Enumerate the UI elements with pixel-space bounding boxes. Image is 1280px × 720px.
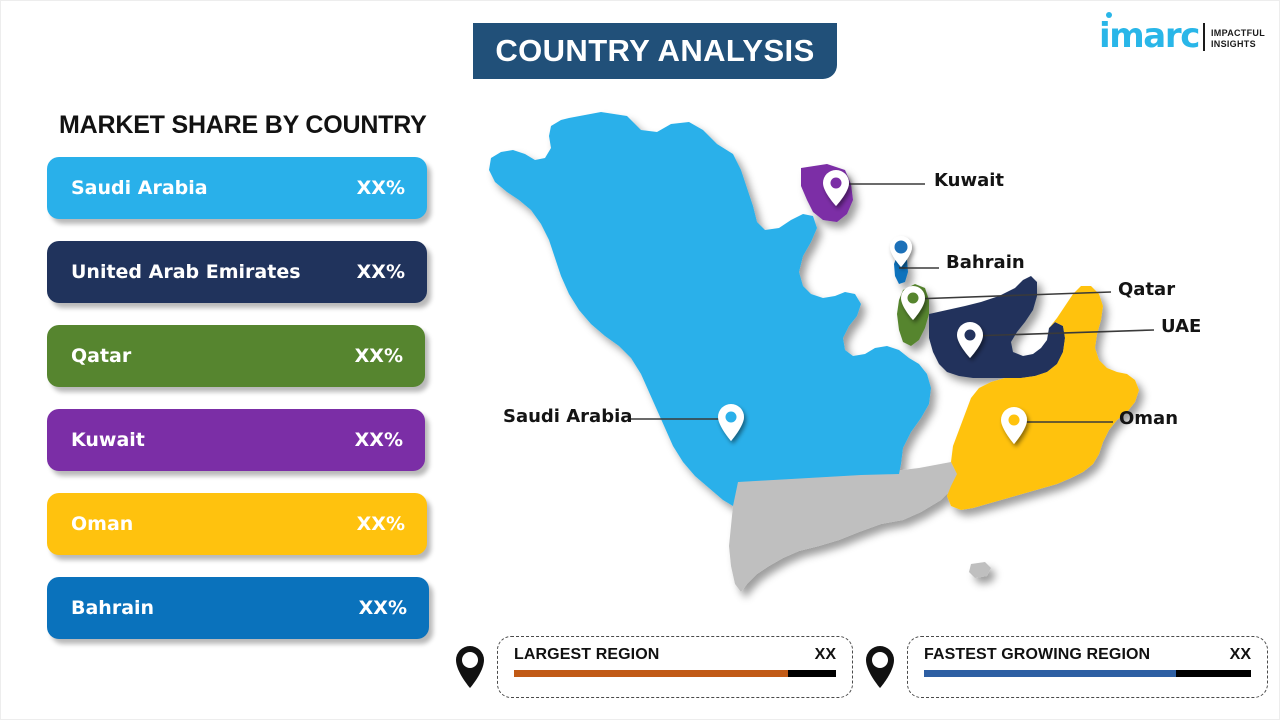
legend-largest-region: LARGEST REGION XX bbox=[453, 635, 853, 699]
legend-largest-row: LARGEST REGION XX bbox=[514, 646, 836, 664]
map-label-oman: Oman bbox=[1119, 408, 1178, 429]
legend-fastest-growing-region: FASTEST GROWING REGION XX bbox=[863, 635, 1268, 699]
logo-wordmark: imarc bbox=[1099, 19, 1199, 53]
country-value: XX% bbox=[357, 513, 405, 535]
imarc-logo: imarc IMPACTFUL INSIGHTS bbox=[1099, 13, 1265, 53]
legend-largest-card: LARGEST REGION XX bbox=[497, 636, 853, 698]
country-bar-kuwait[interactable]: Kuwait XX% bbox=[47, 409, 425, 471]
legend-largest-title: LARGEST REGION bbox=[514, 646, 659, 664]
legend-fastest-title: FASTEST GROWING REGION bbox=[924, 646, 1150, 664]
page-title: COUNTRY ANALYSIS bbox=[495, 33, 814, 69]
country-name: Kuwait bbox=[71, 429, 145, 451]
map-label-kuwait: Kuwait bbox=[934, 170, 1004, 191]
logo-wordmark-text: imarc bbox=[1099, 16, 1199, 56]
map-region-oman-exclave bbox=[969, 562, 991, 578]
legend-fastest-fill bbox=[924, 670, 1176, 677]
country-name: Bahrain bbox=[71, 597, 154, 619]
logo-tagline-line2: INSIGHTS bbox=[1211, 39, 1265, 50]
legend-fastest-row: FASTEST GROWING REGION XX bbox=[924, 646, 1251, 664]
map-label-saudi-arabia: Saudi Arabia bbox=[503, 406, 632, 427]
legend-fastest-track bbox=[924, 670, 1251, 677]
map-label-uae: UAE bbox=[1161, 316, 1201, 337]
page-title-banner: COUNTRY ANALYSIS bbox=[473, 23, 837, 79]
market-share-heading: MARKET SHARE BY COUNTRY bbox=[59, 111, 427, 140]
country-name: Qatar bbox=[71, 345, 131, 367]
country-share-list: Saudi Arabia XX% United Arab Emirates XX… bbox=[47, 157, 437, 661]
logo-tagline: IMPACTFUL INSIGHTS bbox=[1211, 28, 1265, 53]
country-bar-united-arab-emirates[interactable]: United Arab Emirates XX% bbox=[47, 241, 427, 303]
country-value: XX% bbox=[357, 177, 405, 199]
country-bar-oman[interactable]: Oman XX% bbox=[47, 493, 427, 555]
logo-dot-icon bbox=[1106, 12, 1112, 18]
legend-largest-value: XX bbox=[815, 646, 836, 664]
country-bar-bahrain[interactable]: Bahrain XX% bbox=[47, 577, 429, 639]
legend-fastest-card: FASTEST GROWING REGION XX bbox=[907, 636, 1268, 698]
map-region-yemen bbox=[729, 462, 957, 592]
country-name: United Arab Emirates bbox=[71, 261, 301, 283]
legend-fastest-value: XX bbox=[1230, 646, 1251, 664]
country-name: Oman bbox=[71, 513, 133, 535]
logo-divider bbox=[1203, 23, 1205, 51]
country-value: XX% bbox=[359, 597, 407, 619]
map-pin-bahrain[interactable] bbox=[890, 236, 912, 267]
country-value: XX% bbox=[357, 261, 405, 283]
country-bar-saudi-arabia[interactable]: Saudi Arabia XX% bbox=[47, 157, 427, 219]
location-pin-icon bbox=[453, 645, 487, 689]
map-label-bahrain: Bahrain bbox=[946, 252, 1025, 273]
map-label-qatar: Qatar bbox=[1118, 279, 1175, 300]
location-pin-icon bbox=[863, 645, 897, 689]
country-name: Saudi Arabia bbox=[71, 177, 208, 199]
country-bar-qatar[interactable]: Qatar XX% bbox=[47, 325, 425, 387]
country-map: Kuwait Bahrain Qatar UAE Saudi Arabia Om… bbox=[451, 96, 1271, 626]
country-value: XX% bbox=[355, 345, 403, 367]
legend-largest-fill bbox=[514, 670, 788, 677]
map-svg bbox=[451, 96, 1271, 626]
legend-largest-track bbox=[514, 670, 836, 677]
logo-tagline-line1: IMPACTFUL bbox=[1211, 28, 1265, 39]
slide-canvas: COUNTRY ANALYSIS imarc IMPACTFUL INSIGHT… bbox=[0, 0, 1280, 720]
map-region-saudi-arabia bbox=[489, 112, 931, 506]
country-value: XX% bbox=[355, 429, 403, 451]
map-region-united-arab-emirates bbox=[929, 276, 1065, 378]
